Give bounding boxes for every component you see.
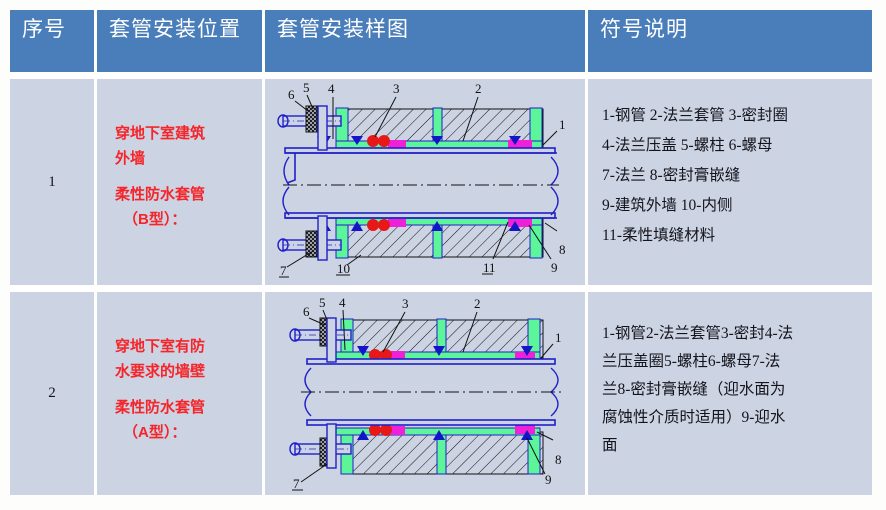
location-line-2: 外墙 (115, 146, 262, 171)
callout-11: 11 (483, 260, 496, 275)
table-row: 2 穿地下室有防 水要求的墙壁 柔性防水套管 （A型）： (10, 292, 872, 495)
location-line-1: 穿地下室建筑 (115, 121, 262, 146)
screenshot-root: 序号 套管安装位置 套管安装样图 符号说明 1 穿地下室建筑 外墙 柔性防水套管… (0, 0, 886, 510)
callout-8: 8 (555, 452, 562, 467)
flange-gland (327, 318, 336, 468)
callout-8: 8 (559, 242, 566, 257)
callout-5: 5 (319, 295, 326, 310)
location-text: 穿地下室建筑 外墙 柔性防水套管 （B型）： (97, 79, 262, 232)
legend-text: 1-钢管2-法兰套管3-密封4-法 兰压盖圈5-螺柱6-螺母7-法 兰8-密封膏… (588, 292, 872, 460)
legend-text: 1-钢管 2-法兰套管 3-密封圈 4-法兰压盖 5-螺柱 6-螺母 7-法兰 … (588, 79, 872, 251)
row-divider (10, 285, 872, 292)
location-line-4: （B型）： (115, 207, 262, 232)
callout-7: 7 (293, 476, 300, 491)
sleeve-diagram-type-b: 6 5 4 3 2 1 8 9 11 7 10 (265, 79, 585, 285)
legend-line: 7-法兰 8-密封膏嵌缝 (602, 161, 866, 191)
legend-line: 1-钢管2-法兰套管3-密封4-法 (602, 320, 866, 348)
location-line-3: 柔性防水套管 (115, 395, 262, 420)
location-line-2: 水要求的墙壁 (115, 359, 262, 384)
table-header-row: 序号 套管安装位置 套管安装样图 符号说明 (10, 10, 872, 72)
legend-line: 9-建筑外墙 10-内侧 (602, 191, 866, 221)
row-legend-cell: 1-钢管 2-法兰套管 3-密封圈 4-法兰压盖 5-螺柱 6-螺母 7-法兰 … (588, 79, 872, 285)
callout-5: 5 (303, 80, 310, 95)
wall-hatch-lower (351, 432, 543, 474)
steel-pipe (283, 148, 559, 218)
row-diagram-cell: 6 5 4 3 2 1 8 9 7 (265, 292, 588, 495)
legend-line: 兰压盖圈5-螺柱6-螺母7-法 (602, 348, 866, 376)
legend-line: 兰8-密封膏嵌缝（迎水面为 (602, 376, 866, 404)
callout-6: 6 (288, 87, 295, 102)
row-index-cell: 2 (10, 292, 97, 495)
location-line-1: 穿地下室有防 (115, 334, 262, 359)
sleeve-installation-table: 序号 套管安装位置 套管安装样图 符号说明 1 穿地下室建筑 外墙 柔性防水套管… (10, 10, 872, 495)
callout-3: 3 (393, 81, 400, 96)
legend-line: 腐蚀性介质时适用）9-迎水 (602, 404, 866, 432)
callout-2: 2 (475, 81, 482, 96)
column-header-index: 序号 (10, 10, 97, 72)
callout-1: 1 (555, 330, 562, 345)
steel-pipe (301, 359, 561, 425)
column-header-location: 套管安装位置 (97, 10, 265, 72)
flange-gland (318, 106, 327, 260)
table-row: 1 穿地下室建筑 外墙 柔性防水套管 （B型）： (10, 79, 872, 285)
callout-10: 10 (337, 261, 350, 276)
legend-line: 11-柔性填缝材料 (602, 221, 866, 251)
column-header-diagram: 套管安装样图 (265, 10, 588, 72)
callout-4: 4 (339, 295, 346, 310)
row-legend-cell: 1-钢管2-法兰套管3-密封4-法 兰压盖圈5-螺柱6-螺母7-法 兰8-密封膏… (588, 292, 872, 495)
callout-6: 6 (303, 304, 310, 319)
callout-3: 3 (402, 296, 409, 311)
row-diagram-cell: 6 5 4 3 2 1 8 9 11 7 10 (265, 79, 588, 285)
callout-9: 9 (545, 472, 552, 487)
callout-underlines (279, 274, 493, 277)
legend-line: 面 (602, 432, 866, 460)
row-location-cell: 穿地下室有防 水要求的墙壁 柔性防水套管 （A型）： (97, 292, 265, 495)
sleeve-diagram-type-a: 6 5 4 3 2 1 8 9 7 (265, 292, 585, 495)
callout-1: 1 (559, 117, 566, 132)
legend-line: 1-钢管 2-法兰套管 3-密封圈 (602, 101, 866, 131)
location-text: 穿地下室有防 水要求的墙壁 柔性防水套管 （A型）： (97, 292, 262, 445)
callout-4: 4 (328, 81, 335, 96)
location-line-4: （A型）： (115, 420, 262, 445)
header-body-divider (10, 72, 872, 79)
stud-bolt-upper (278, 106, 341, 132)
callout-2: 2 (474, 296, 481, 311)
callout-9: 9 (551, 260, 558, 275)
location-line-3: 柔性防水套管 (115, 182, 262, 207)
row-location-cell: 穿地下室建筑 外墙 柔性防水套管 （B型）： (97, 79, 265, 285)
column-header-legend: 符号说明 (588, 10, 872, 72)
legend-line: 4-法兰压盖 5-螺柱 6-螺母 (602, 131, 866, 161)
callout-7: 7 (280, 263, 287, 278)
row-index-cell: 1 (10, 79, 97, 285)
